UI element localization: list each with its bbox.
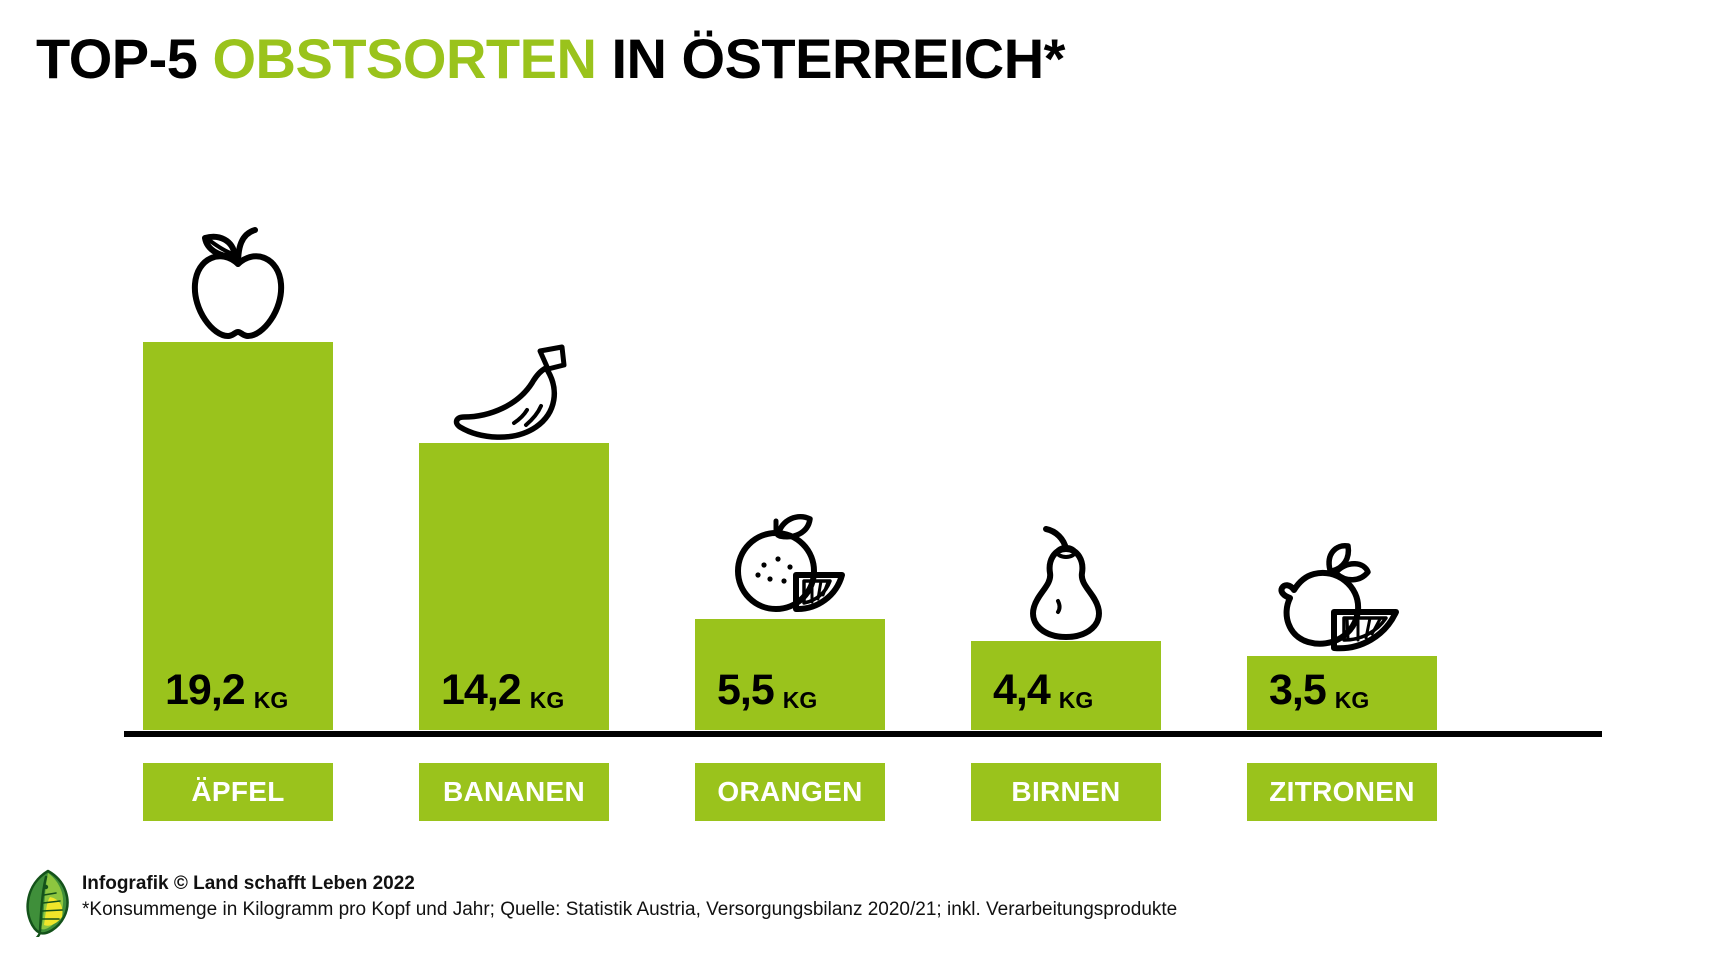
bar-value-birnen: 4,4 [993, 669, 1050, 712]
banana-icon [419, 323, 609, 443]
category-label-orangen: ORANGEN [695, 763, 885, 821]
bar-aepfel: 19,2 KG [143, 342, 333, 730]
bar-chart: 19,2 KG 14,2 KG [0, 120, 1718, 730]
pear-icon [971, 521, 1161, 641]
orange-icon [695, 499, 885, 619]
bar-orangen: 5,5 KG [695, 619, 885, 730]
axis-baseline [124, 731, 1602, 737]
footer: Infografik © Land schafft Leben 2022 *Ko… [0, 865, 1718, 945]
bar-value-bananen: 14,2 [441, 669, 521, 712]
bar-column-bananen: 14,2 KG [419, 323, 609, 730]
category-label-aepfel: ÄPFEL [143, 763, 333, 821]
bar-column-birnen: 4,4 KG [971, 521, 1161, 730]
bar-birnen: 4,4 KG [971, 641, 1161, 730]
bar-value-orangen: 5,5 [717, 669, 774, 712]
category-label-bananen: BANANEN [419, 763, 609, 821]
bar-column-aepfel: 19,2 KG [143, 222, 333, 730]
bar-unit-aepfel: KG [254, 689, 289, 712]
apple-icon [143, 222, 333, 342]
category-label-zitronen: ZITRONEN [1247, 763, 1437, 821]
bar-unit-zitronen: KG [1335, 689, 1370, 712]
bar-unit-bananen: KG [530, 689, 565, 712]
bar-unit-birnen: KG [1059, 689, 1094, 712]
bar-column-orangen: 5,5 KG [695, 499, 885, 730]
title-part-1: TOP-5 [36, 27, 212, 90]
category-label-birnen: BIRNEN [971, 763, 1161, 821]
bar-zitronen: 3,5 KG [1247, 656, 1437, 730]
bar-value-zitronen: 3,5 [1269, 669, 1326, 712]
bar-bananen: 14,2 KG [419, 443, 609, 730]
bar-value-aepfel: 19,2 [165, 669, 245, 712]
footer-credit: Infografik © Land schafft Leben 2022 [82, 871, 1177, 897]
title-accent: OBSTSORTEN [212, 27, 596, 90]
lemon-icon [1247, 536, 1437, 656]
bar-unit-orangen: KG [783, 689, 818, 712]
footer-text: Infografik © Land schafft Leben 2022 *Ko… [82, 871, 1177, 922]
title-part-2: IN ÖSTERREICH* [596, 27, 1065, 90]
category-labels: ÄPFEL BANANEN ORANGEN BIRNEN ZITRONEN [0, 763, 1718, 825]
footer-source: *Konsummenge in Kilogramm pro Kopf und J… [82, 897, 1177, 923]
leaf-logo-icon [22, 867, 74, 937]
bar-column-zitronen: 3,5 KG [1247, 536, 1437, 730]
page-title: TOP-5 OBSTSORTEN IN ÖSTERREICH* [36, 28, 1065, 90]
